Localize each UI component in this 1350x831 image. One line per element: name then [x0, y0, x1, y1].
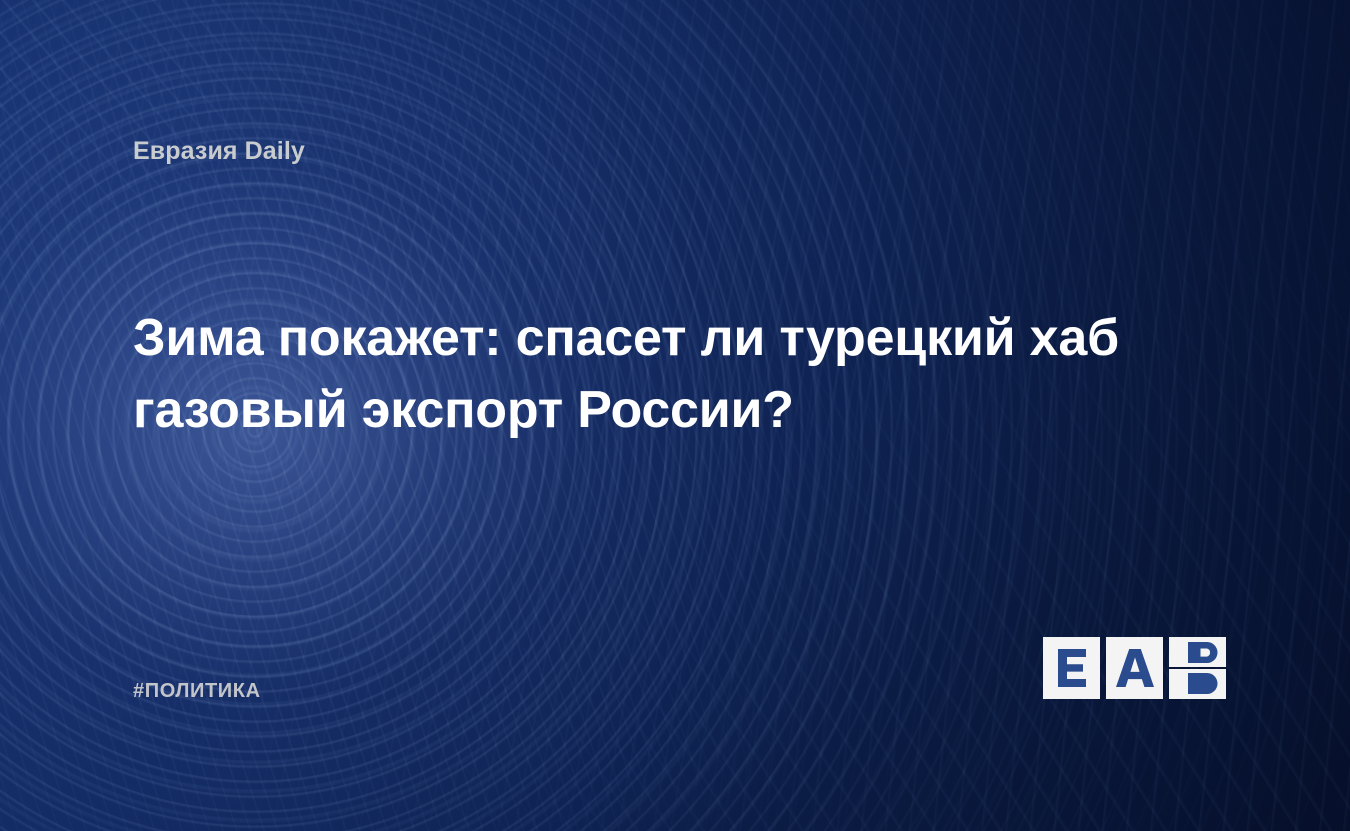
logo-tile-d: [1169, 637, 1226, 699]
card-content: Евразия Daily Зима покажет: спасет ли ту…: [0, 0, 1350, 831]
brand-name: Евразия Daily: [133, 137, 305, 166]
category-tag[interactable]: #ПОЛИТИКА: [133, 680, 261, 703]
logo-tile-a: [1106, 637, 1163, 699]
article-share-card: Евразия Daily Зима покажет: спасет ли ту…: [0, 0, 1350, 831]
letter-e-icon: [1052, 646, 1092, 690]
letter-a-icon: [1113, 646, 1157, 690]
page-title: Зима покажет: спасет ли турецкий хаб газ…: [133, 302, 1213, 447]
logo-tile-e: [1043, 637, 1100, 699]
eadaily-logo[interactable]: [1043, 637, 1226, 699]
